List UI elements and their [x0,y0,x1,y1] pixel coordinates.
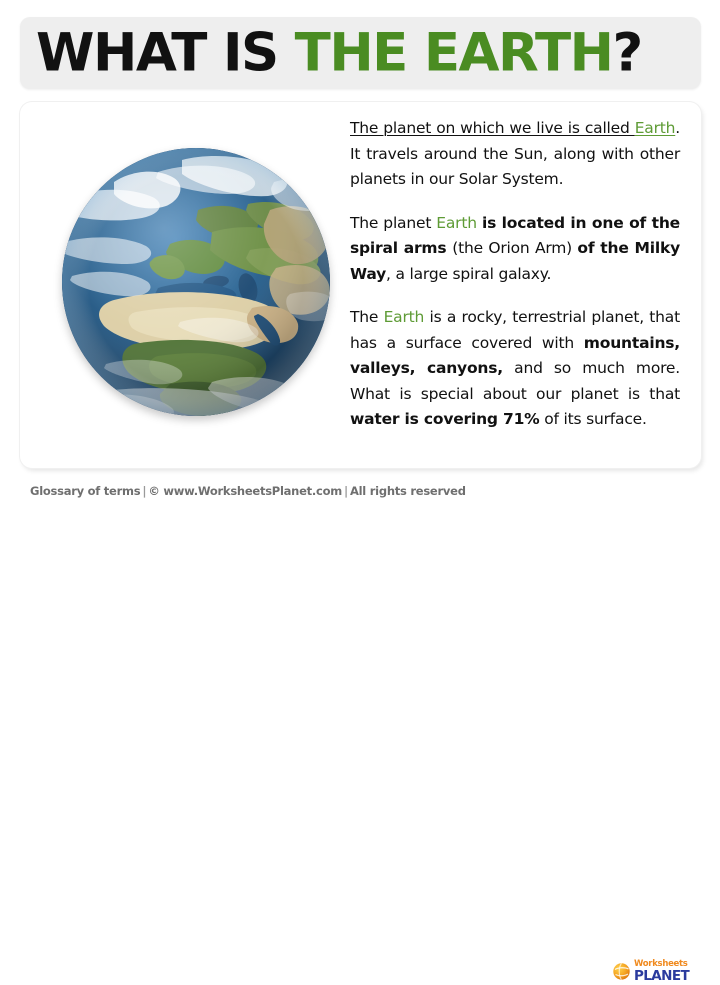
paragraph-surface: The Earth is a rocky, terrestrial planet… [350,305,680,433]
article-text-column: The planet on which we live is called Ea… [350,116,680,433]
logo-wordmark: Worksheets PLANET [634,959,708,983]
page-title: WHAT IS THE EARTH? [36,27,642,80]
run-1-4: (the Orion Arm) [452,239,577,257]
run-1-1: Earth [436,214,477,232]
content-panel: The planet on which we live is called Ea… [20,102,701,468]
paragraph-location: The planet Earth is located in one of th… [350,211,680,288]
run-2-1: Earth [384,308,425,326]
footer-separator-2: | [342,484,350,498]
footer: Glossary of terms|© www.WorksheetsPlanet… [0,480,720,509]
worksheets-planet-logo[interactable]: Worksheets PLANET [612,958,708,984]
worksheet-page: WHAT IS THE EARTH? [0,0,720,509]
run-0-0: The planet on which we live is called [350,119,635,137]
logo-bottom-text: PLANET [634,969,708,983]
glossary-link[interactable]: Glossary of terms [30,484,140,498]
earth-globe-image [62,148,330,416]
website-link[interactable]: www.WorksheetsPlanet.com [163,484,342,498]
rights-reserved-label: All rights reserved [350,484,466,498]
title-text-green: THE EARTH [295,23,613,84]
title-text-black-prefix: WHAT IS [36,23,295,84]
footer-credit-line: Glossary of terms|© www.WorksheetsPlanet… [30,484,466,498]
paragraph-definition: The planet on which we live is called Ea… [350,116,680,193]
title-text-question-mark: ? [613,23,642,84]
copyright-icon: © [148,484,159,498]
run-1-6: , a large spiral galaxy. [386,265,551,283]
logo-top-text: Worksheets [634,959,708,969]
header-panel: WHAT IS THE EARTH? [20,17,701,89]
earth-globe-figure [62,148,330,416]
planet-logo-icon [612,962,631,981]
run-0-1: Earth [635,119,676,137]
run-2-5: water is covering 71% [350,410,540,428]
run-2-0: The [350,308,384,326]
run-2-6: of its surface. [540,410,647,428]
run-1-0: The planet [350,214,436,232]
